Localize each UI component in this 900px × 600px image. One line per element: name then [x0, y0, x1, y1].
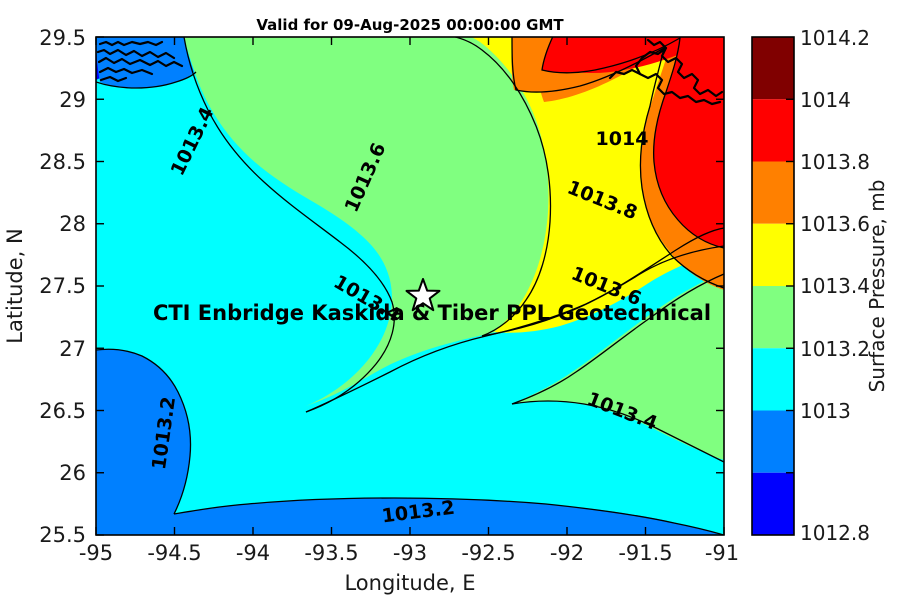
colorbar-tick-label-1: 1013 — [800, 399, 851, 423]
contour-label-3: 1014 — [596, 128, 649, 150]
site-label: CTI Enbridge Kaskida & Tiber PPL Geotech… — [153, 301, 711, 325]
x-tick-label-6: -92 — [550, 541, 584, 565]
x-tick-label-2: -94 — [236, 541, 270, 565]
colorbar-band-2 — [752, 348, 794, 410]
colorbar-band-0 — [752, 473, 794, 535]
y-tick-label-7: 29 — [59, 88, 86, 112]
x-tick-label-7: -91.5 — [618, 541, 672, 565]
figure-root: 1013.4 1013.6 1013.8 1014 1013.4 1013.6 … — [0, 0, 900, 600]
x-tick-label-5: -92.5 — [461, 541, 515, 565]
x-tick-label-1: -94.5 — [147, 541, 201, 565]
colorbar-band-1 — [752, 411, 794, 473]
colorbar-tick-label-4: 1013.6 — [800, 212, 870, 236]
y-tick-label-8: 29.5 — [39, 26, 86, 50]
x-tick-label-4: -93 — [393, 541, 427, 565]
colorbar-title: Surface Pressure, mb — [865, 180, 889, 393]
y-tick-label-5: 28 — [59, 212, 86, 236]
colorbar-band-3 — [752, 286, 794, 348]
y-tick-label-3: 27 — [59, 337, 86, 361]
colorbar-tick-label-6: 1014 — [800, 88, 851, 112]
colorbar-tick-label-3: 1013.4 — [800, 274, 870, 298]
colorbar-band-4 — [752, 224, 794, 286]
y-tick-label-4: 27.5 — [39, 274, 86, 298]
plot-area[interactable]: 1013.4 1013.6 1013.8 1014 1013.4 1013.6 … — [96, 30, 724, 535]
y-tick-label-2: 26.5 — [39, 399, 86, 423]
colorbar-tick-label-0: 1012.8 — [800, 521, 870, 545]
x-axis-title: Longitude, E — [344, 571, 475, 595]
y-tick-label-0: 25.5 — [39, 523, 86, 547]
x-axis-tick-labels: -95 -94.5 -94 -93.5 -93 -92.5 -92 -91.5 … — [79, 541, 739, 565]
colorbar-band-5 — [752, 162, 794, 224]
colorbar-tick-label-7: 1014.2 — [800, 26, 870, 50]
colorbar-tick-label-5: 1013.8 — [800, 150, 870, 174]
contour-figure: 1013.4 1013.6 1013.8 1014 1013.4 1013.6 … — [0, 0, 900, 600]
colorbar-band-7 — [752, 37, 794, 99]
colorbar-band-6 — [752, 99, 794, 161]
plot-title: Valid for 09-Aug-2025 00:00:00 GMT — [256, 16, 564, 34]
y-tick-label-6: 28.5 — [39, 150, 86, 174]
y-axis-title: Latitude, N — [3, 228, 27, 344]
colorbar-tick-label-2: 1013.2 — [800, 337, 870, 361]
x-tick-label-8: -91 — [705, 541, 739, 565]
y-tick-label-1: 26 — [59, 461, 86, 485]
x-tick-label-3: -93.5 — [304, 541, 358, 565]
